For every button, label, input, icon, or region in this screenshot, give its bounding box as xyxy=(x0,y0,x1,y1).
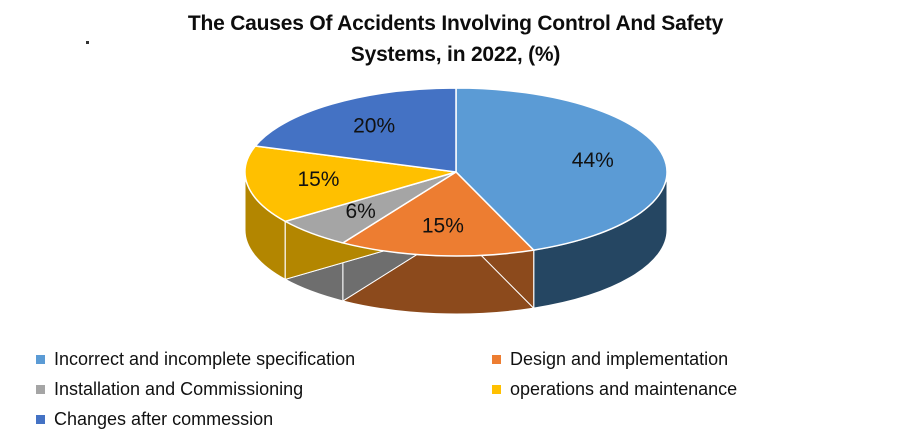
legend-swatch-icon xyxy=(492,385,501,394)
legend-item-installation-and-commissioning[interactable]: Installation and Commissioning xyxy=(36,374,303,404)
chart-title-line-1: The Causes Of Accidents Involving Contro… xyxy=(100,8,811,39)
pie-slice-label-0: 44% xyxy=(572,149,614,172)
legend-swatch-icon xyxy=(492,355,501,364)
legend-item-label: Incorrect and incomplete specification xyxy=(54,349,355,369)
pie-chart-plot-area: 44%15%6%15%20% xyxy=(0,78,911,333)
legend-item-changes-after-commession[interactable]: Changes after commession xyxy=(36,404,273,434)
legend-item-label: Installation and Commissioning xyxy=(54,379,303,399)
stray-dot-artifact xyxy=(86,41,89,44)
legend-swatch-icon xyxy=(36,415,45,424)
pie-chart-svg: 44%15%6%15%20% xyxy=(0,78,911,333)
pie-slice-label-1: 15% xyxy=(422,215,464,238)
chart-title-line-2: Systems, in 2022, (%) xyxy=(100,39,811,70)
legend-item-label: operations and maintenance xyxy=(510,379,737,399)
legend-item-incorrect-and-incomplete-specification[interactable]: Incorrect and incomplete specification xyxy=(36,344,355,374)
chart-title: The Causes Of Accidents Involving Contro… xyxy=(100,8,811,70)
legend-swatch-icon xyxy=(36,355,45,364)
chart-legend: Incorrect and incomplete specification I… xyxy=(0,344,911,441)
legend-item-operations-and-maintenance[interactable]: operations and maintenance xyxy=(492,374,737,404)
pie-slice-label-4: 20% xyxy=(353,115,395,138)
legend-item-label: Design and implementation xyxy=(510,349,728,369)
legend-item-label: Changes after commession xyxy=(54,409,273,429)
pie-slice-label-3: 15% xyxy=(297,168,339,191)
legend-swatch-icon xyxy=(36,385,45,394)
pie-slice-label-2: 6% xyxy=(345,200,375,223)
legend-item-design-and-implementation[interactable]: Design and implementation xyxy=(492,344,728,374)
